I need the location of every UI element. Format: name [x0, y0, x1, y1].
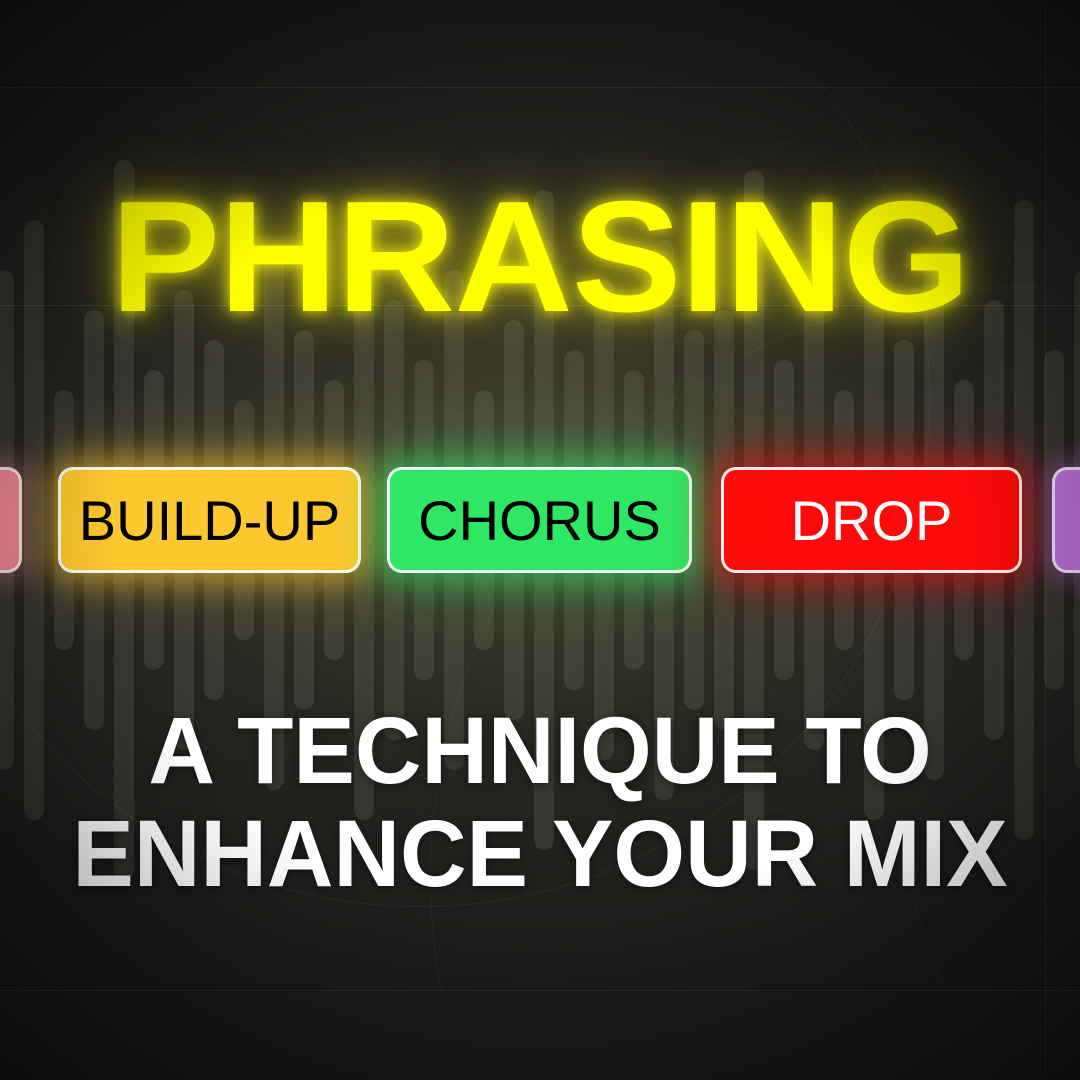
badge-partial-right[interactable] [1052, 467, 1080, 573]
badge-chorus[interactable]: CHORUS [387, 467, 692, 573]
page-title: PHRASING [0, 178, 1080, 336]
badge-partial-left[interactable] [0, 467, 22, 573]
section-badge-row: BUILD-UP CHORUS DROP [0, 467, 1080, 573]
panel-divider-bottom [0, 990, 1080, 991]
subtitle-line-2: ENHANCE YOUR MIX [16, 803, 1064, 906]
badge-build-up[interactable]: BUILD-UP [58, 467, 361, 573]
subtitle: A TECHNIQUE TO ENHANCE YOUR MIX [16, 700, 1064, 905]
panel-divider-top [0, 87, 1080, 88]
subtitle-line-1: A TECHNIQUE TO [148, 698, 931, 804]
badge-drop[interactable]: DROP [721, 467, 1022, 573]
poster-canvas: PHRASING BUILD-UP CHORUS DROP A TECHNIQU… [0, 0, 1080, 1080]
